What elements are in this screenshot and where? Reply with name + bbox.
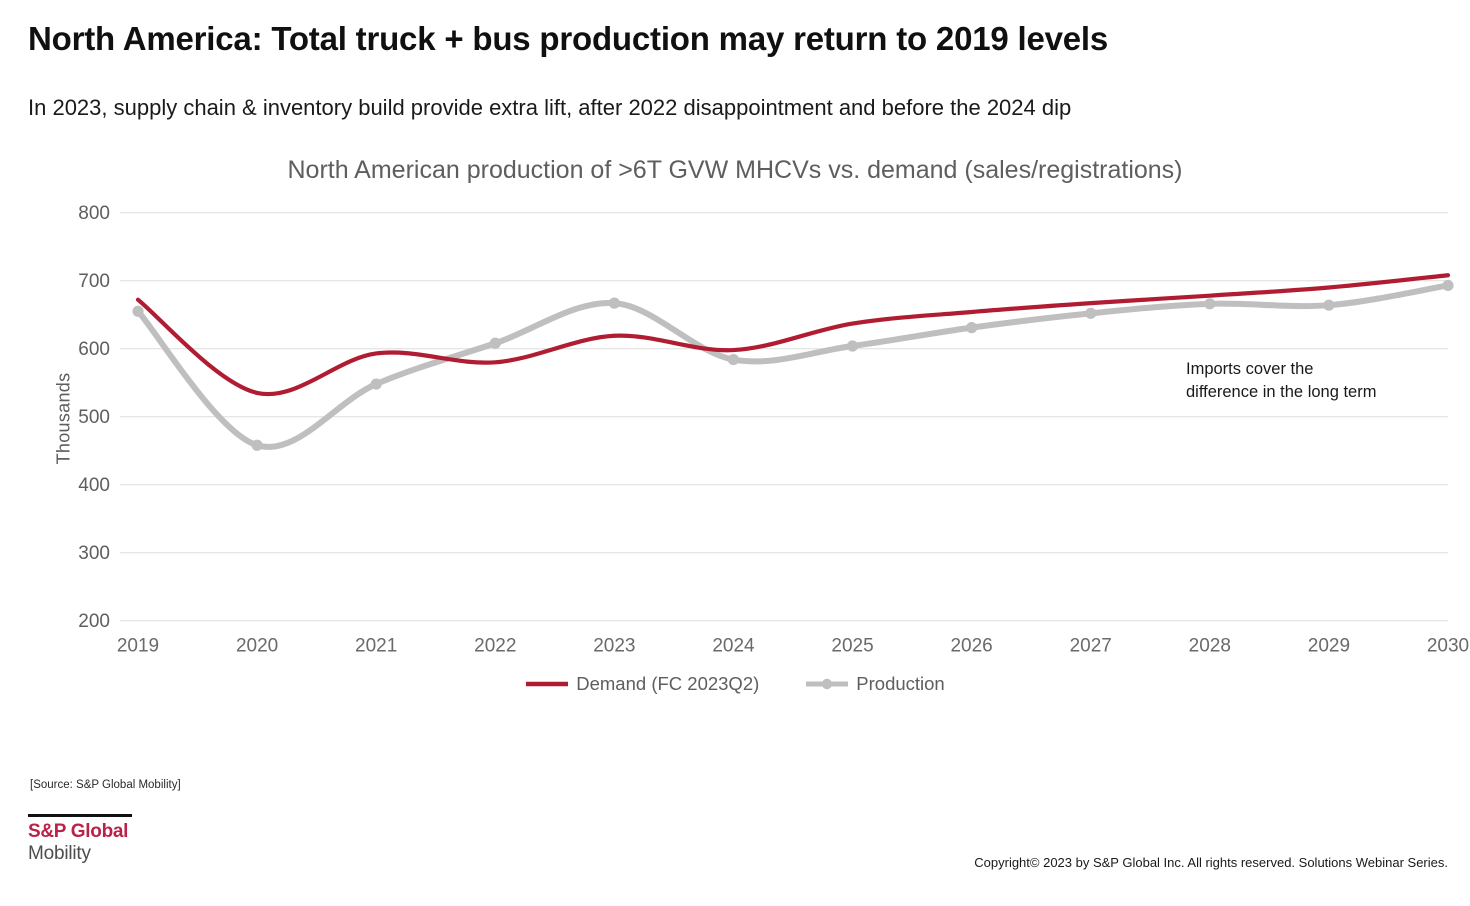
x-axis-tick-label: 2023 xyxy=(593,636,635,657)
x-axis-tick-label: 2019 xyxy=(117,636,159,657)
x-axis-tick-label: 2030 xyxy=(1427,636,1469,657)
x-axis-tick-label: 2020 xyxy=(236,636,278,657)
legend-item[interactable]: Production xyxy=(805,673,944,695)
logo-rule xyxy=(28,814,132,817)
copyright-text: Copyright© 2023 by S&P Global Inc. All r… xyxy=(974,855,1448,870)
logo-mobility-text: Mobility xyxy=(28,843,158,864)
x-axis-tick-label: 2025 xyxy=(831,636,873,657)
page-subtitle: In 2023, supply chain & inventory build … xyxy=(28,95,1071,121)
data-point-marker xyxy=(251,440,262,451)
y-axis-tick-label: 400 xyxy=(78,475,110,496)
x-axis-tick-label: 2028 xyxy=(1189,636,1231,657)
data-point-marker xyxy=(609,298,620,309)
x-axis-tick-label: 2022 xyxy=(474,636,516,657)
chart-legend: Demand (FC 2023Q2)Production xyxy=(0,673,1470,695)
line-chart-plot: 8007006005004003002002019202020212022202… xyxy=(0,190,1470,660)
y-axis-tick-label: 700 xyxy=(78,271,110,292)
annotation-line-2: difference in the long term xyxy=(1186,381,1376,404)
y-axis-tick-label: 500 xyxy=(78,407,110,428)
legend-swatch xyxy=(805,676,849,692)
source-note: [Source: S&P Global Mobility] xyxy=(30,779,181,791)
data-point-marker xyxy=(490,338,501,349)
y-axis-tick-label: 200 xyxy=(78,611,110,632)
slide-canvas: North America: Total truck + bus product… xyxy=(0,0,1470,906)
x-axis-tick-label: 2024 xyxy=(712,636,755,657)
chart-annotation: Imports cover the difference in the long… xyxy=(1186,358,1376,404)
x-axis-tick-label: 2029 xyxy=(1308,636,1350,657)
y-axis-tick-label: 800 xyxy=(78,203,110,224)
page-title: North America: Total truck + bus product… xyxy=(28,20,1108,58)
data-point-marker xyxy=(847,340,858,351)
chart-container: Thousands 800700600500400300200201920202… xyxy=(0,190,1470,710)
data-point-marker xyxy=(1442,280,1453,291)
data-point-marker xyxy=(728,354,739,365)
data-point-marker xyxy=(966,322,977,333)
legend-label: Demand (FC 2023Q2) xyxy=(576,673,759,695)
data-point-marker xyxy=(371,378,382,389)
data-point-marker xyxy=(132,306,143,317)
x-axis-tick-label: 2026 xyxy=(950,636,992,657)
annotation-line-1: Imports cover the xyxy=(1186,358,1376,381)
legend-label: Production xyxy=(856,673,944,695)
x-axis-tick-label: 2027 xyxy=(1070,636,1112,657)
data-point-marker xyxy=(1085,308,1096,319)
y-axis-tick-label: 600 xyxy=(78,339,110,360)
y-axis-tick-label: 300 xyxy=(78,543,110,564)
sp-global-mobility-logo: S&P Global Mobility xyxy=(28,814,158,864)
data-point-marker xyxy=(1204,298,1215,309)
data-point-marker xyxy=(1323,300,1334,311)
logo-sp-global-text: S&P Global xyxy=(28,822,158,843)
chart-title: North American production of >6T GVW MHC… xyxy=(0,156,1470,185)
legend-item[interactable]: Demand (FC 2023Q2) xyxy=(525,673,759,695)
legend-swatch xyxy=(525,676,569,692)
x-axis-tick-label: 2021 xyxy=(355,636,397,657)
